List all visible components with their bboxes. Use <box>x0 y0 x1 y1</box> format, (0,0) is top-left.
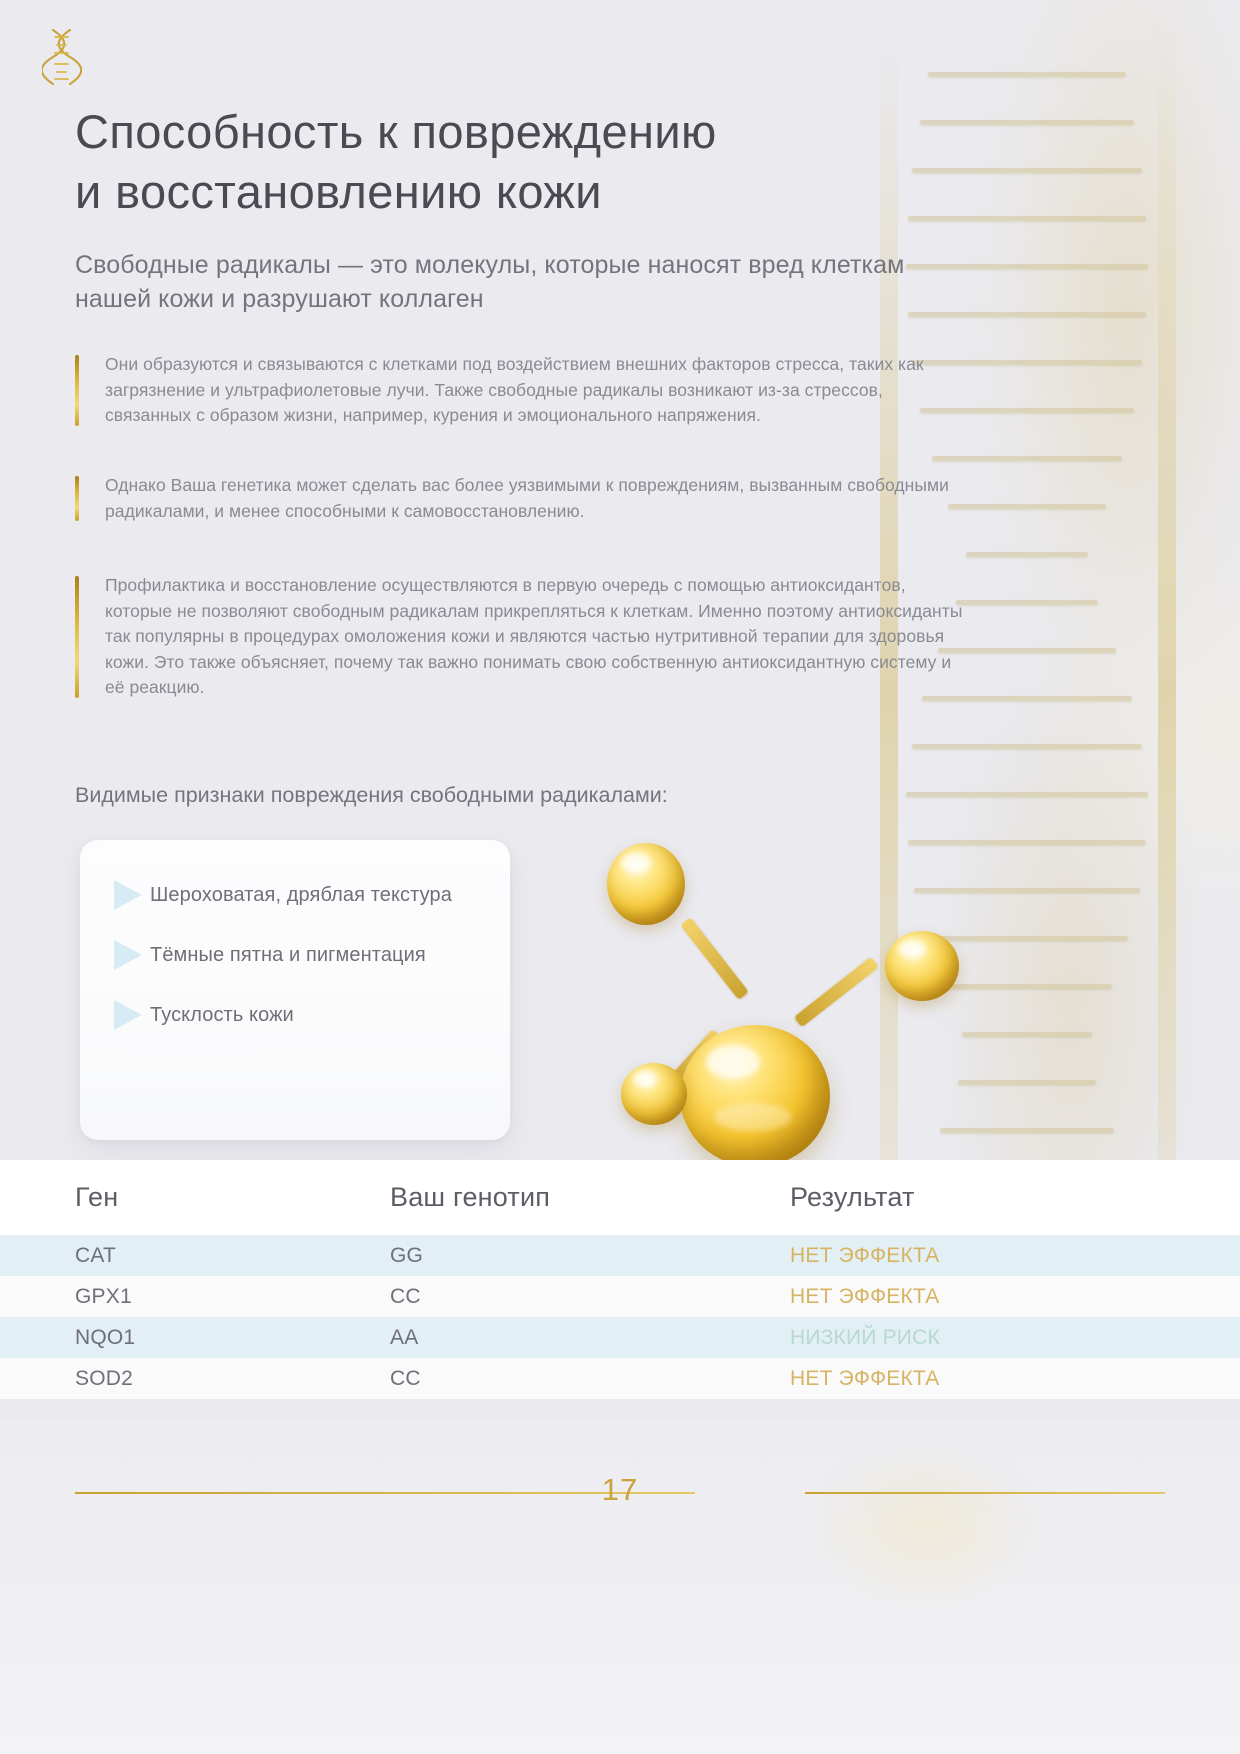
cell-result: НЕТ ЭФФЕКТА <box>790 1367 1240 1391</box>
atom-bottom-left <box>621 1063 687 1125</box>
gold-accent-bar <box>75 476 79 521</box>
paragraph-1: Они образуются и связываются с клетками … <box>75 352 970 429</box>
gold-accent-bar <box>75 355 79 426</box>
cell-result: НИЗКИЙ РИСК <box>790 1326 1240 1350</box>
page-subtitle: Свободные радикалы — это молекулы, котор… <box>75 248 955 316</box>
cell-genotype: AA <box>390 1326 790 1350</box>
cell-gene: SOD2 <box>75 1367 390 1391</box>
page-title-line-2: и восстановлению кожи <box>75 162 975 222</box>
column-header-result: Результат <box>790 1182 1240 1213</box>
dna-helix-icon <box>42 26 82 88</box>
table-row: CAT GG НЕТ ЭФФЕКТА <box>0 1235 1240 1276</box>
cell-gene: NQO1 <box>75 1326 390 1350</box>
cell-genotype: CC <box>390 1367 790 1391</box>
atom-right <box>885 931 959 1001</box>
paragraph-2: Однако Ваша генетика может сделать вас б… <box>75 473 970 524</box>
cell-gene: CAT <box>75 1244 390 1268</box>
paragraph-1-text: Они образуются и связываются с клетками … <box>105 354 924 425</box>
triangle-right-icon <box>110 998 150 1032</box>
footer-glow <box>760 1425 1090 1675</box>
column-header-genotype: Ваш генотип <box>390 1182 790 1213</box>
molecule-icon <box>585 835 1015 1155</box>
list-item: Тусклость кожи <box>110 998 492 1032</box>
paragraph-2-text: Однако Ваша генетика может сделать вас б… <box>105 475 949 521</box>
triangle-right-icon <box>110 938 150 972</box>
page-number: 17 <box>0 1472 1240 1508</box>
column-header-gene: Ген <box>75 1182 390 1213</box>
table-row: GPX1 CC НЕТ ЭФФЕКТА <box>0 1276 1240 1317</box>
table-row: NQO1 AA НИЗКИЙ РИСК <box>0 1317 1240 1358</box>
cell-genotype: GG <box>390 1244 790 1268</box>
gold-accent-bar <box>75 576 79 698</box>
table-body: CAT GG НЕТ ЭФФЕКТА GPX1 CC НЕТ ЭФФЕКТА N… <box>0 1235 1240 1399</box>
page-title: Способность к повреждению и восстановлен… <box>75 102 975 222</box>
atom-top-left <box>607 843 685 925</box>
cell-result: НЕТ ЭФФЕКТА <box>790 1285 1240 1309</box>
cell-result: НЕТ ЭФФЕКТА <box>790 1244 1240 1268</box>
list-item: Тёмные пятна и пигментация <box>110 938 492 972</box>
cell-gene: GPX1 <box>75 1285 390 1309</box>
results-table: Ген Ваш генотип Результат CAT GG НЕТ ЭФФ… <box>0 1160 1240 1399</box>
triangle-right-icon <box>110 878 150 912</box>
cell-genotype: CC <box>390 1285 790 1309</box>
list-item-label: Тёмные пятна и пигментация <box>150 941 426 969</box>
list-item: Шероховатая, дряблая текстура <box>110 878 492 912</box>
visible-signs-heading: Видимые признаки повреждения свободными … <box>75 780 955 810</box>
atom-center <box>680 1025 830 1167</box>
visible-signs-list: Шероховатая, дряблая текстура Тёмные пят… <box>110 878 492 1058</box>
table-row: SOD2 CC НЕТ ЭФФЕКТА <box>0 1358 1240 1399</box>
page-title-line-1: Способность к повреждению <box>75 102 975 162</box>
paragraph-3-text: Профилактика и восстановление осуществля… <box>105 575 962 697</box>
list-item-label: Тусклость кожи <box>150 1001 294 1029</box>
list-item-label: Шероховатая, дряблая текстура <box>150 881 452 909</box>
visible-signs-card: Шероховатая, дряблая текстура Тёмные пят… <box>80 840 510 1140</box>
paragraph-3: Профилактика и восстановление осуществля… <box>75 573 970 701</box>
table-header-row: Ген Ваш генотип Результат <box>0 1160 1240 1235</box>
